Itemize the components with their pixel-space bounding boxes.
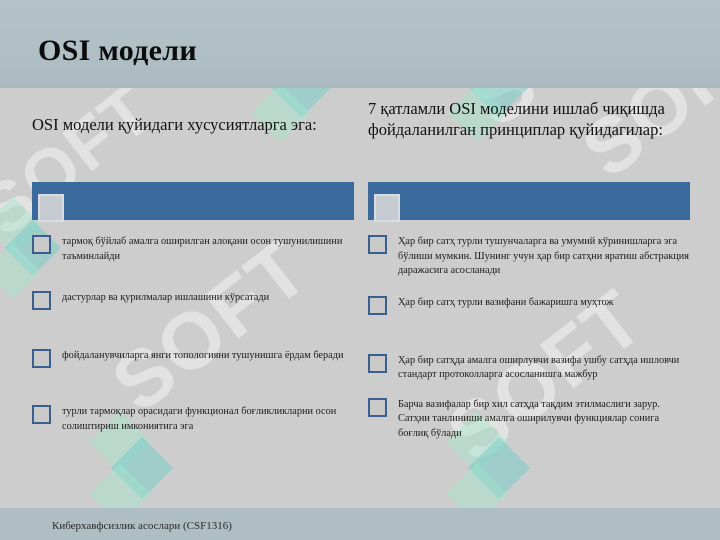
list-item[interactable]: Ҳар бир сатҳ турли тушунчаларга ва умуми… — [368, 234, 690, 279]
checkbox-icon[interactable] — [368, 354, 387, 373]
list-item[interactable]: Барча вазифалар бир хил сатҳда тақдим эт… — [368, 397, 690, 442]
list-item-label: Ҳар бир сатҳда амалга оширлувчи вазифа у… — [398, 353, 690, 383]
accent-bar-checkbox-icon — [38, 194, 64, 222]
checkbox-icon[interactable] — [368, 296, 387, 315]
list-item-label: Ҳар бир сатҳ турли тушунчаларга ва умуми… — [398, 234, 690, 279]
list-item[interactable]: турли тармоқлар орасидаги функционал боғ… — [32, 404, 354, 438]
list-item[interactable]: дастурлар ва қурилмалар ишлашини кўрсата… — [32, 290, 354, 324]
slide-content: OSI модели қуйидаги хусусиятларга эга: т… — [0, 88, 720, 508]
list-item-label: фойдаланувчиларга янги топологияни тушун… — [62, 348, 343, 364]
checkbox-icon[interactable] — [32, 349, 51, 368]
column-right-heading: 7 қатламли OSI моделини ишлаб чиқишда фо… — [368, 88, 690, 176]
page-title: OSI модели — [38, 34, 197, 68]
list-item[interactable]: Ҳар бир сатҳ турли вазифани бажаришга му… — [368, 295, 690, 329]
list-item[interactable]: тармоқ бўйлаб амалга оширилган алоқани о… — [32, 234, 354, 268]
list-item-label: дастурлар ва қурилмалар ишлашини кўрсата… — [62, 290, 269, 306]
checkbox-icon[interactable] — [32, 235, 51, 254]
checkbox-icon[interactable] — [368, 398, 387, 417]
column-left-accent-bar — [32, 182, 354, 220]
column-left: OSI модели қуйидаги хусусиятларга эга: т… — [32, 88, 354, 454]
list-item-label: турли тармоқлар орасидаги функционал боғ… — [62, 404, 354, 434]
column-right-items: Ҳар бир сатҳ турли тушунчаларга ва умуми… — [368, 234, 690, 442]
list-item[interactable]: фойдаланувчиларга янги топологияни тушун… — [32, 348, 354, 382]
checkbox-icon[interactable] — [32, 405, 51, 424]
column-left-items: тармоқ бўйлаб амалга оширилган алоқани о… — [32, 234, 354, 438]
list-item[interactable]: Ҳар бир сатҳда амалга оширлувчи вазифа у… — [368, 353, 690, 387]
list-item-label: Барча вазифалар бир хил сатҳда тақдим эт… — [398, 397, 690, 442]
column-left-heading: OSI модели қуйидаги хусусиятларга эга: — [32, 88, 354, 176]
column-right: 7 қатламли OSI моделини ишлаб чиқишда фо… — [368, 88, 690, 458]
checkbox-icon[interactable] — [368, 235, 387, 254]
checkbox-icon[interactable] — [32, 291, 51, 310]
column-right-accent-bar — [368, 182, 690, 220]
footer-course-label: Киберхавфсизлик асослари (CSF1316) — [52, 520, 232, 532]
list-item-label: тармоқ бўйлаб амалга оширилган алоқани о… — [62, 234, 354, 264]
slide-canvas: SOFT SOFT SOFT SOFT SOFT OSI модели OSI … — [0, 0, 720, 540]
accent-bar-checkbox-icon — [374, 194, 400, 222]
list-item-label: Ҳар бир сатҳ турли вазифани бажаришга му… — [398, 295, 614, 311]
